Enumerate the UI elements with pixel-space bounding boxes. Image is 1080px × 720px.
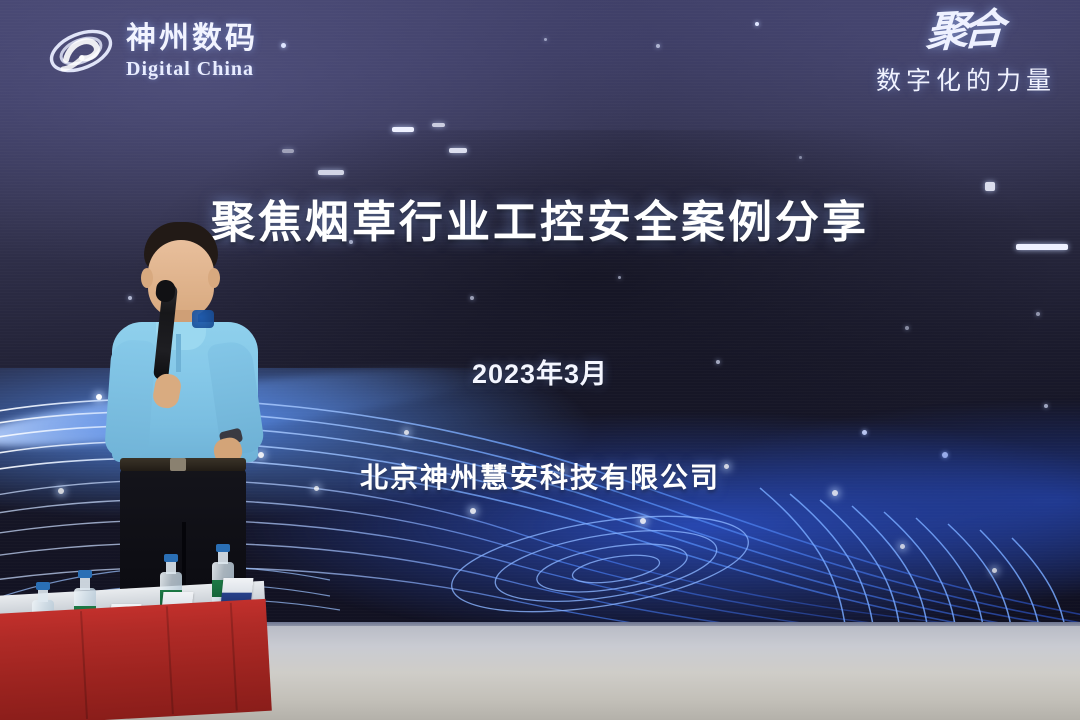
speaker-ear-right xyxy=(208,268,220,288)
brand-name-cn: 神州数码 xyxy=(126,24,258,54)
event-slogan: 聚合 数字化的力量 xyxy=(806,18,1056,97)
bottle-cap xyxy=(78,570,92,578)
bottle-neck xyxy=(38,588,48,602)
speaker-arm-left xyxy=(104,339,156,460)
bottle-cap xyxy=(164,554,178,562)
speaker-ear-left xyxy=(141,268,153,288)
bottle-neck xyxy=(80,576,90,590)
slogan-calligraphy: 聚合 xyxy=(805,13,1000,58)
red-table-skirt xyxy=(0,599,272,720)
bottle-cap xyxy=(36,582,50,590)
polo-chest-logo-icon xyxy=(192,310,214,328)
speaker-face xyxy=(148,240,214,318)
bottle-neck xyxy=(218,550,228,564)
slogan-subtitle: 数字化的力量 xyxy=(806,61,1056,97)
speaker xyxy=(96,222,276,622)
brand-name-en: Digital China xyxy=(126,59,258,79)
conference-stage-photo: 聚焦烟草行业工控安全案例分享 2023年3月 北京神州慧安科技有限公司 神州数码… xyxy=(0,0,1080,720)
bottle-cap xyxy=(216,544,230,552)
bottle-neck xyxy=(166,560,176,574)
digital-china-swirl-icon xyxy=(46,20,116,82)
speaker-placket xyxy=(176,334,181,372)
belt-buckle-icon xyxy=(170,458,186,471)
brand-logo: 神州数码 Digital China xyxy=(46,20,258,82)
